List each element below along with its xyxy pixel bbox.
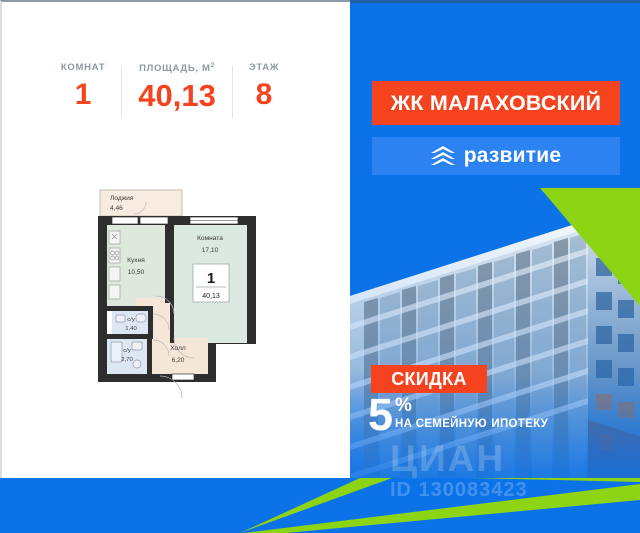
chevrons-logo-icon xyxy=(431,146,455,166)
label-hall-area: 6,20 xyxy=(172,357,185,364)
label-bath1-area: 1,40 xyxy=(125,326,137,332)
promo-top-rule xyxy=(350,0,640,3)
label-loggia-area: 4,46 xyxy=(110,205,123,212)
discount-label: СКИДКА xyxy=(391,369,467,390)
stat-area-label-sup: 2 xyxy=(211,62,215,69)
listing-card: ЖК МАЛАХОВСКИЙ развитие СКИДКА 5 % НА СЕ… xyxy=(0,0,640,533)
label-bath2-area: 2,70 xyxy=(121,357,133,363)
stat-area: ПЛОЩАДЬ, м2 40,13 xyxy=(122,62,232,113)
discount-details: 5 % НА СЕМЕЙНУЮ ИПОТЕКУ xyxy=(368,395,548,435)
label-loggia-name: Лоджия xyxy=(110,195,134,202)
stat-area-label: ПЛОЩАДЬ, м2 xyxy=(139,62,215,74)
developer-strip: развитие xyxy=(372,137,620,175)
label-kitchen-name: Кухня xyxy=(127,257,145,264)
discount-number: 5 xyxy=(368,395,393,435)
project-brand-banner: ЖК МАЛАХОВСКИЙ xyxy=(372,81,620,125)
label-room-area: 17,10 xyxy=(202,247,219,254)
discount-subtitle-line1: НА СЕМЕЙНУЮ xyxy=(395,418,487,430)
floorplan-drawing[interactable]: Лоджия 4,46 Кухня 10,50 Комната 17,10 с/… xyxy=(90,188,262,400)
project-brand-text: ЖК МАЛАХОВСКИЙ xyxy=(391,91,601,116)
label-kitchen-area: 10,50 xyxy=(128,269,145,276)
stat-rooms-label: КОМНАТ xyxy=(61,62,105,73)
promo-panel: ЖК МАЛАХОВСКИЙ развитие xyxy=(350,0,640,533)
label-room-name: Комната xyxy=(197,235,223,242)
apartment-stats: КОМНАТ 1 ПЛОЩАДЬ, м2 40,13 ЭТАЖ 8 xyxy=(2,62,338,134)
discount-subtitle-line2: ИПОТЕКУ xyxy=(491,418,548,430)
stat-rooms-value: 1 xyxy=(75,78,92,112)
plan-summary-badge: 1 40,13 xyxy=(193,264,229,302)
label-bath1-name: с/у xyxy=(127,317,135,323)
stat-floor-label: ЭТАЖ xyxy=(249,62,279,73)
stat-area-label-text: ПЛОЩАДЬ, м xyxy=(139,63,211,74)
bottom-accent-band xyxy=(0,478,640,533)
label-hall-name: Холл xyxy=(170,345,186,352)
discount-percent-sign: % xyxy=(395,397,548,414)
stat-rooms: КОМНАТ 1 xyxy=(45,62,121,112)
building-photo xyxy=(350,188,640,488)
label-bath2-name: с/у xyxy=(123,348,131,354)
developer-name: развитие xyxy=(464,144,562,168)
plan-badge-area: 40,13 xyxy=(202,293,220,300)
stat-floor: ЭТАЖ 8 xyxy=(233,62,295,112)
stat-area-value: 40,13 xyxy=(138,79,216,113)
stat-floor-value: 8 xyxy=(256,78,273,112)
plan-badge-rooms: 1 xyxy=(207,270,215,287)
floorplan-card: КОМНАТ 1 ПЛОЩАДЬ, м2 40,13 ЭТАЖ 8 xyxy=(0,0,350,478)
